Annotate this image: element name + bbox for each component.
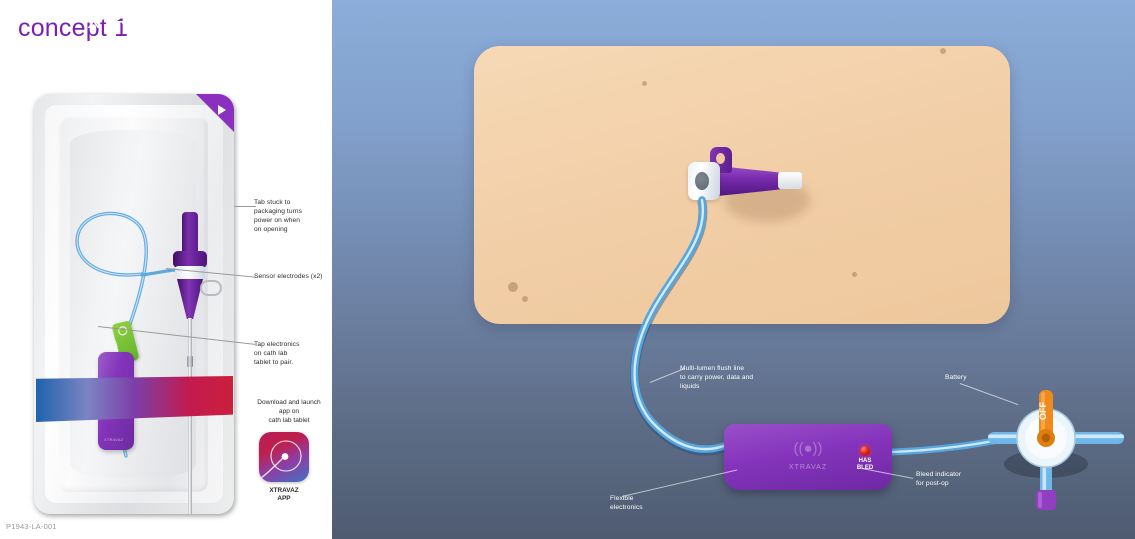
concept-sheet: concept 1 P1943-LA-001: [0, 0, 1135, 539]
packaged-pod-label: XTRAVAZ: [104, 438, 123, 443]
annotation-sensor-electrodes: Sensor electrodes (x2): [254, 272, 334, 281]
power-ring-icon: [117, 325, 128, 336]
svg-text:OFF: OFF: [1038, 402, 1048, 420]
coiled-tubing: [34, 94, 234, 514]
left-panel: concept 1 P1943-LA-001: [0, 0, 332, 539]
introducer-hub: [182, 212, 198, 256]
brand-banner-text: XTRAVAZ: [36, 12, 233, 34]
leader-line-tab-power: [234, 206, 256, 207]
clinical-scene: ((●)) XTRAVAZ HAS BLED OFF: [332, 0, 1135, 539]
introducer-suture-wing: [200, 280, 222, 296]
annotation-flush-line: Multi-lumen flush line to carry power, d…: [680, 364, 786, 391]
xtravaz-app-icon[interactable]: [259, 432, 309, 482]
introducer-valve: [175, 266, 205, 280]
app-download-caption: Download and launch app on cath lab tabl…: [246, 398, 332, 425]
annotation-tab-power: Tab stuck to packaging turns power on wh…: [254, 198, 330, 234]
annotation-flexible-electronics: Flexible electronics: [610, 494, 670, 512]
annotation-bleed-indicator: Bleed indicator for post-op: [916, 470, 994, 488]
app-name-label: XTRAVAZ APP: [250, 487, 318, 503]
packaging-tray: XTRAVAZ XTRAVAZ OFF: [34, 94, 234, 514]
flexible-electronics-pod: ((●)) XTRAVAZ HAS BLED: [724, 424, 892, 490]
annotation-battery: Battery: [945, 373, 1005, 382]
document-code: P1943-LA-001: [6, 522, 57, 531]
bleed-indicator-led: [860, 446, 870, 456]
packaging-brand-banner: [36, 376, 233, 422]
annotation-tap-electronics: Tap electronics on cath lab tablet to pa…: [254, 340, 330, 367]
sensor-electrode-1: [187, 356, 193, 367]
play-arrow-icon: [218, 105, 226, 115]
three-way-stopcock: OFF: [988, 386, 1128, 516]
